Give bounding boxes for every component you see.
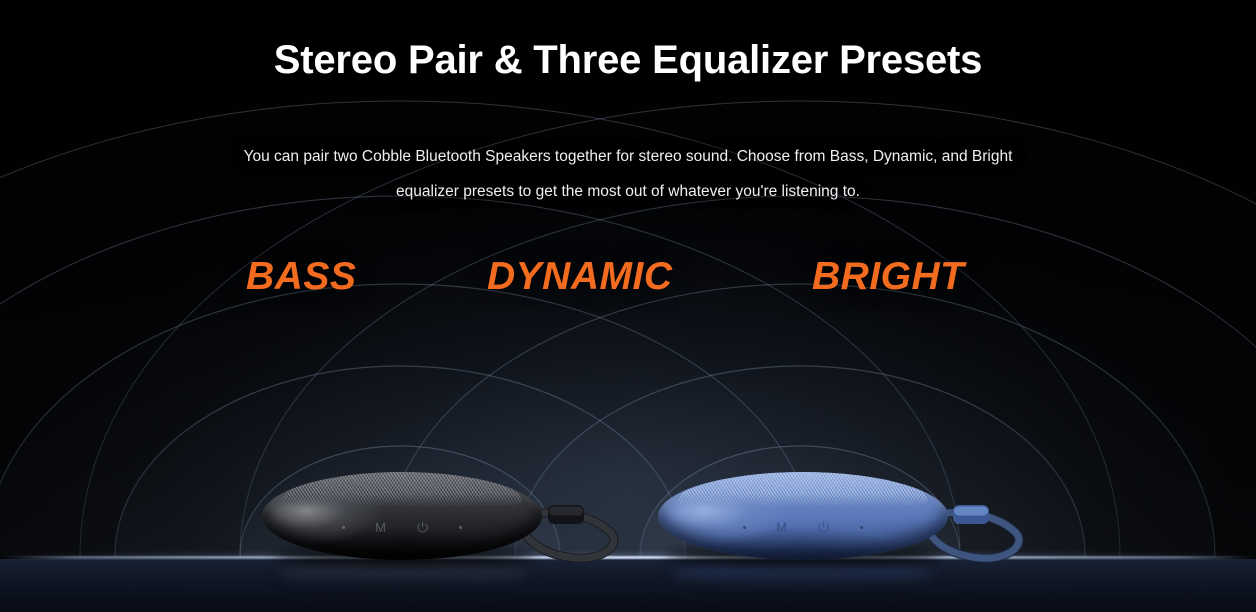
control-panel-blue: M	[743, 521, 863, 534]
section-description: You can pair two Cobble Bluetooth Speake…	[233, 139, 1023, 209]
led-indicator-dot-icon	[743, 526, 746, 529]
led-indicator-dot-icon	[342, 526, 345, 529]
preset-label-bass: BASS	[246, 255, 356, 299]
speaker-grille-blue	[678, 472, 927, 508]
preset-label-dynamic: DYNAMIC	[487, 255, 673, 299]
equalizer-preset-labels: BASS DYNAMIC BRIGHT	[0, 255, 1256, 305]
control-panel-black: M	[342, 521, 462, 534]
mode-button[interactable]: M	[776, 521, 787, 534]
power-button-icon[interactable]	[416, 521, 429, 534]
floor-surface	[0, 559, 1256, 612]
speaker-unit-black: M	[262, 472, 542, 560]
speaker-unit-blue: M	[658, 472, 948, 560]
status-dot-icon	[860, 526, 863, 529]
preset-label-bright: BRIGHT	[812, 255, 965, 299]
status-dot-icon	[459, 526, 462, 529]
speaker-body-black	[262, 472, 542, 560]
page-title: Stereo Pair & Three Equalizer Presets	[0, 38, 1256, 83]
power-button-icon[interactable]	[817, 521, 830, 534]
speaker-body-blue	[658, 472, 948, 560]
mode-button[interactable]: M	[375, 521, 386, 534]
hero-stage: M M	[0, 0, 1256, 612]
speaker-grille-black	[282, 472, 523, 508]
